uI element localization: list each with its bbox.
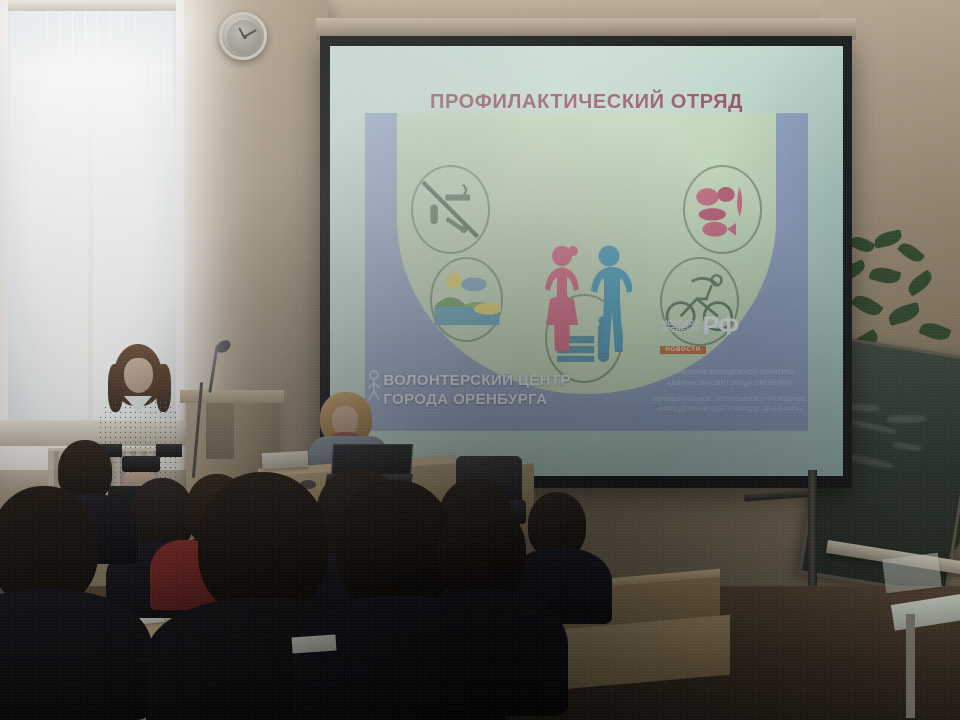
notebook-sheet xyxy=(291,634,336,653)
molodoy-orenburg-logo: МОЛОДОЙ ОРЕНБУРГ РФ НОВОСТИ xyxy=(660,316,799,355)
credit-line: МУНИЦИПАЛЬНОЕ АВТОНОМНОЕ УЧРЕЖДЕНИЕ xyxy=(651,395,808,406)
logo-rf-mark: РФ xyxy=(703,316,739,337)
couple-figures xyxy=(531,150,642,353)
side-table-leg xyxy=(906,614,915,718)
lectern-top xyxy=(180,390,284,403)
classroom-photo: ПРОФИЛАКТИЧЕСКИЙ ОТРЯД xyxy=(0,0,960,720)
slide-credits: УПРАВЛЕНИЕ МОЛОДЕЖНОЙ ПОЛИТИКИ АДМИНИСТР… xyxy=(651,368,808,416)
credit-line: АДМИНИСТРАЦИИ ГОРОДА ОРЕНБУРГА xyxy=(651,379,808,390)
window-blinds xyxy=(10,0,174,210)
logo-word-top: МОЛОДОЙ xyxy=(660,320,699,327)
logo-word-bottom: ОРЕНБУРГ xyxy=(660,327,699,334)
wall-clock xyxy=(219,12,267,60)
footer-line-2: ГОРОДА ОРЕНБУРГА xyxy=(383,391,642,410)
presenter-belt xyxy=(122,456,160,472)
projection-screen: ПРОФИЛАКТИЧЕСКИЙ ОТРЯД xyxy=(320,36,852,488)
credit-line: УПРАВЛЕНИЕ МОЛОДЕЖНОЙ ПОЛИТИКИ xyxy=(651,368,808,379)
audience-member-foreground xyxy=(424,502,544,720)
screen-surface: ПРОФИЛАКТИЧЕСКИЙ ОТРЯД xyxy=(330,46,843,476)
wall-poster xyxy=(882,553,942,594)
paper-stack xyxy=(262,451,309,469)
healthy-food-icon xyxy=(683,165,761,254)
presenter-cuff-right xyxy=(156,444,182,457)
slide-title: ПРОФИЛАКТИЧЕСКИЙ ОТРЯД xyxy=(356,91,818,114)
female-figure xyxy=(540,243,584,353)
credit-line: «МОЛОДЕЖНЫЙ ЦЕНТР ГОРОДА ОРЕНБУРГА» xyxy=(651,405,808,416)
audience-member-foreground xyxy=(0,486,126,720)
footer-line-1: ВОЛОНТЕРСКИЙ ЦЕНТР xyxy=(383,372,642,391)
logo-news-badge: НОВОСТИ xyxy=(660,346,706,354)
clock-pin xyxy=(243,35,247,39)
presenter-face xyxy=(124,358,153,393)
nature-icon xyxy=(430,257,504,342)
lectern-front-panel xyxy=(206,403,234,459)
no-smoking-no-alcohol-icon xyxy=(411,165,489,254)
clock-face xyxy=(227,20,261,54)
slide-footer: ВОЛОНТЕРСКИЙ ЦЕНТР ГОРОДА ОРЕНБУРГА xyxy=(383,372,642,409)
presentation-slide: ПРОФИЛАКТИЧЕСКИЙ ОТРЯД xyxy=(356,76,818,446)
blind-rail xyxy=(8,0,176,11)
male-figure xyxy=(586,243,632,353)
